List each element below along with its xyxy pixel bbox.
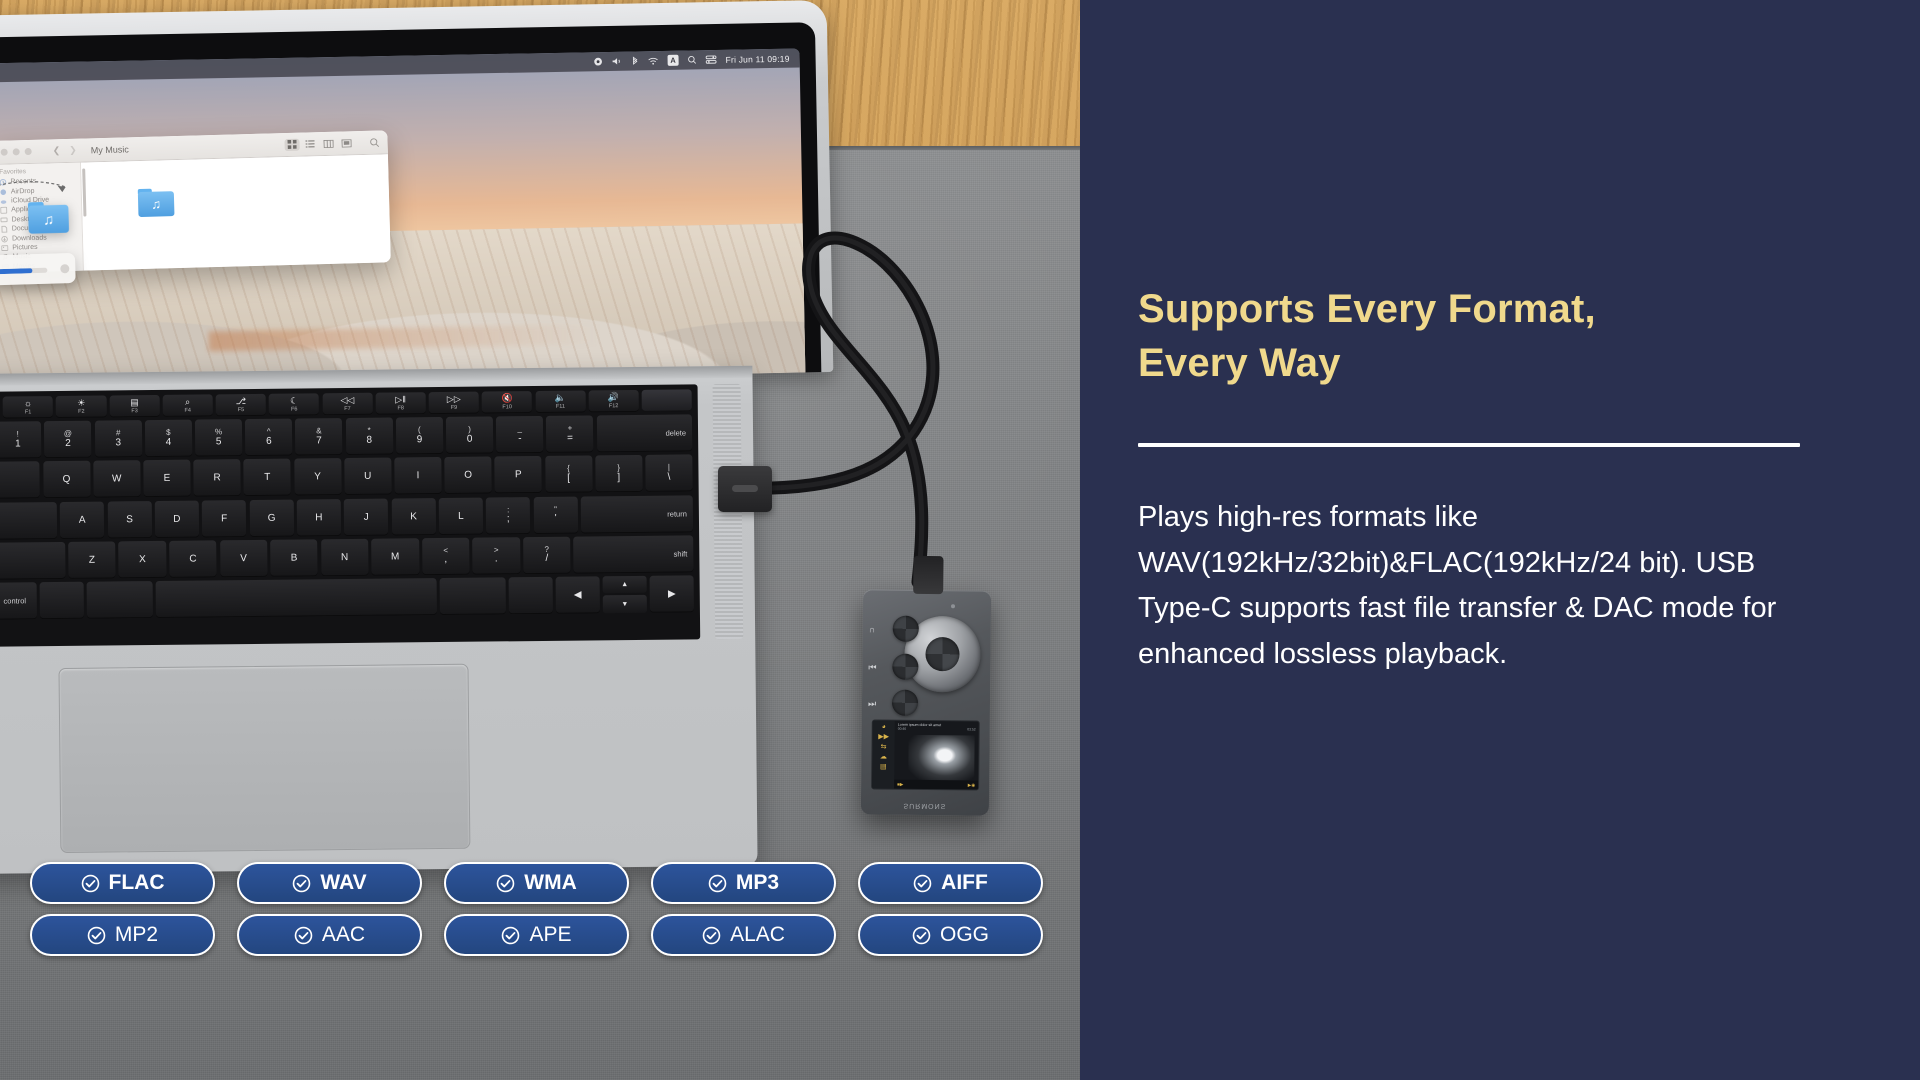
check-circle-icon [913,874,932,893]
format-badge-ogg[interactable]: OGG [858,914,1043,956]
badge-label: MP2 [115,923,158,947]
key-f7[interactable]: ◁◁F7 [322,393,372,416]
key-control[interactable]: control [0,582,37,619]
key-3[interactable]: #3 [95,420,142,457]
keyboard-bottom-row[interactable]: fn control ◀ ▲ ▼ ▶ [0,575,696,620]
previous-track-button[interactable] [892,654,918,680]
music-folder-icon[interactable]: ♫ [138,188,175,217]
key-period[interactable]: >. [472,537,520,574]
check-circle-icon [81,874,100,893]
keyboard-q-row[interactable]: tab Q W E R T Y U I O P {[ }] |\ [0,455,695,500]
copy-progress-dialog[interactable]: mp3" to "My Music" About 5 seconds [0,253,76,288]
key-option-right[interactable] [509,577,553,614]
keyboard[interactable]: esc ☼F1 ☀F2 ▤F3 ⌕F4 ⎇F5 ☾F6 ◁◁F7 ▷‖F8 ▷▷… [0,384,700,647]
key-arrow-down[interactable]: ▼ [603,595,647,613]
key-p[interactable]: P [495,456,542,493]
check-circle-icon [912,926,931,945]
folder-icon[interactable]: ▤ [880,764,887,771]
key-shift-right[interactable]: shift [573,535,693,573]
key-f12[interactable]: 🔊F12 [588,390,638,413]
finder-window[interactable]: ❮ ❯ My Music [0,130,391,273]
key-semicolon[interactable]: :; [486,497,531,534]
key-2[interactable]: @2 [44,421,91,458]
copy-panel: Supports Every Format, Every Way Plays h… [1080,0,1920,1080]
volume-icon: ▶◉ [968,782,975,788]
sidebar-label: Downloads [12,234,47,242]
key-slash[interactable]: ?/ [523,536,571,573]
track-times: 00:46 03:52 [895,727,979,732]
input-source-icon[interactable]: A [667,55,678,66]
key-arrow-up[interactable]: ▲ [603,576,647,594]
check-circle-icon [87,926,106,945]
key-f[interactable]: F [202,500,247,537]
check-circle-icon [708,874,727,893]
cloud-icon[interactable]: ☁ [880,754,887,761]
key-u[interactable]: U [344,458,391,495]
jog-wheel-center[interactable] [925,637,959,671]
key-i[interactable]: I [394,457,441,494]
format-badge-grid: FLAC WAV WMA MP3 AIFF MP2 [30,862,1050,956]
laptop-screen: Help [0,48,805,388]
key-x[interactable]: X [119,541,167,578]
key-c[interactable]: C [169,540,217,577]
wifi-icon[interactable] [648,57,659,65]
scrollbar[interactable] [82,169,86,217]
key-7[interactable]: &7 [295,418,342,455]
check-circle-icon [294,926,313,945]
key-minus[interactable]: _- [496,416,543,453]
device-usb-connector [913,556,943,594]
product-photo: Help [0,0,1080,1080]
next-track-icon: ⏭ [868,699,876,708]
key-0[interactable]: )0 [446,417,493,454]
key-o[interactable]: O [444,457,491,494]
badge-label: OGG [940,923,989,947]
format-badge-mp2[interactable]: MP2 [30,914,215,956]
menubar-clock[interactable]: Fri Jun 11 09:19 [725,53,789,64]
spotlight-search-icon[interactable] [688,55,697,64]
key-j[interactable]: J [344,498,389,535]
format-badge-wma[interactable]: WMA [444,862,629,904]
device-screen: ◕ ▶▶ ⇆ ☁ ▤ Lorem ipsum dolor sit amet 00… [871,719,980,790]
check-circle-icon [292,874,311,893]
key-n[interactable]: N [321,539,369,576]
chevron-right-icon[interactable]: ❯ [69,145,77,156]
key-capslock[interactable]: caps lock [0,502,57,540]
list-icon[interactable] [302,138,317,150]
badge-label: WAV [320,871,366,895]
portable-audio-player: ∩ ⏮ ⏭ ◕ ▶▶ ⇆ ☁ ▤ Lorem ipsum dolor sit a… [861,589,991,815]
sidebar-label: AirDrop [11,187,35,195]
eq-icon[interactable]: ◕ [882,724,886,731]
key-command-left[interactable] [87,581,153,619]
check-circle-icon [702,926,721,945]
badge-label: APE [529,923,571,947]
key-t[interactable]: T [244,459,291,496]
key-q[interactable]: Q [43,461,90,498]
key-f8[interactable]: ▷‖F8 [375,392,425,415]
search-icon[interactable] [369,137,379,147]
airdrop-icon [0,188,7,195]
badge-label: MP3 [736,871,779,895]
key-bracket-left[interactable]: {[ [545,456,592,493]
key-f10[interactable]: 🔇F10 [482,391,532,414]
device-brand: SURMONS [861,801,989,809]
body-copy: Plays high-res formats like WAV(192kHz/3… [1138,495,1828,678]
badge-label: FLAC [109,871,165,895]
headphone-icon: ∩ [869,625,876,634]
key-8[interactable]: *8 [346,418,393,455]
format-badge-aac[interactable]: AAC [237,914,422,956]
key-shift-left[interactable]: shift [0,542,65,580]
badge-label: ALAC [730,923,785,947]
copy-dialog-subtitle: About 5 seconds [0,274,68,284]
bluetooth-icon[interactable] [632,56,639,66]
badge-label: WMA [524,871,576,895]
finder-content-area[interactable]: ♫ [81,154,391,270]
format-badge-mp3[interactable]: MP3 [651,862,836,904]
device-indicator-dot [951,604,955,608]
download-icon [1,235,8,242]
keyboard-a-row[interactable]: caps lock A S D F G H J K L :; "' return [0,495,695,540]
key-f9[interactable]: ▷▷F9 [429,392,479,415]
document-icon [1,226,8,233]
key-m[interactable]: M [371,538,419,575]
laptop-bezel: Help [0,22,821,388]
check-circle-icon [496,874,515,893]
apps-icon [0,207,7,214]
format-badge-ape[interactable]: APE [444,914,629,956]
key-bracket-right[interactable]: }] [595,455,642,492]
key-6[interactable]: ^6 [245,419,292,456]
key-arrow-updown[interactable]: ▲ ▼ [603,576,647,613]
key-1[interactable]: !1 [0,421,42,458]
key-quote[interactable]: "' [533,496,578,533]
key-arrow-right[interactable]: ▶ [650,575,694,612]
grid-icon[interactable] [284,138,299,150]
next-track-button[interactable] [892,690,918,716]
laptop-lid: Help [0,0,833,388]
control-center-dot-icon[interactable] [594,57,603,66]
key-f6[interactable]: ☾F6 [269,393,319,416]
time-total: 03:52 [967,727,976,731]
key-e[interactable]: E [143,460,190,497]
headline-line-1: Supports Every Format, [1138,282,1832,336]
key-w[interactable]: W [93,461,140,498]
album-artwork [908,735,974,784]
shuffle-icon[interactable]: ⇆ [881,744,887,751]
key-f4[interactable]: ⌕F4 [163,394,213,417]
key-k[interactable]: K [391,498,436,535]
key-f1[interactable]: ☼F1 [3,396,53,419]
key-comma[interactable]: <, [422,537,470,574]
key-l[interactable]: L [439,497,484,534]
usb-c-plug [718,466,772,512]
key-y[interactable]: Y [294,458,341,495]
keyboard-z-row[interactable]: shift Z X C V B N M <, >. ?/ shift [0,535,696,580]
headline-line-2: Every Way [1138,336,1832,390]
laptop-base: esc ☼F1 ☀F2 ▤F3 ⌕F4 ⎇F5 ☾F6 ◁◁F7 ▷‖F8 ▷▷… [0,366,758,875]
gallery-icon[interactable] [338,137,353,149]
device-now-playing: Lorem ipsum dolor sit amet 00:46 03:52 ■… [894,721,979,790]
playlist-icon[interactable]: ▶▶ [878,734,889,741]
key-a[interactable]: A [60,501,105,538]
key-v[interactable]: V [220,540,268,577]
key-f5[interactable]: ⎇F5 [216,394,266,417]
key-arrow-left[interactable]: ◀ [556,576,600,613]
key-f11[interactable]: 🔈F11 [535,390,585,413]
check-circle-icon [501,926,520,945]
music-folder-icon[interactable]: ♫ [28,201,69,233]
window-traffic-lights[interactable] [1,148,32,156]
volume-icon[interactable] [612,57,623,66]
key-delete[interactable]: delete [597,415,693,453]
device-screen-rail[interactable]: ◕ ▶▶ ⇆ ☁ ▤ [872,720,895,788]
cancel-icon[interactable] [60,264,69,273]
keyboard-number-row[interactable]: ~` !1 @2 #3 $4 %5 ^6 &7 *8 (9 )0 _- += d… [0,415,694,460]
key-r[interactable]: R [193,459,240,496]
key-b[interactable]: B [270,539,318,576]
product-marketing-slide: Help [0,0,1920,1080]
cloud-icon [0,198,7,205]
macos-menubar: Help [0,48,800,83]
format-badge-flac[interactable]: FLAC [30,862,215,904]
key-tab[interactable]: tab [0,462,40,500]
key-9[interactable]: (9 [396,417,443,454]
chevron-left-icon[interactable]: ❮ [53,145,61,156]
trackpad[interactable] [58,664,470,853]
key-space[interactable] [156,578,437,618]
finder-view-modes[interactable] [284,137,353,151]
key-s[interactable]: S [107,501,152,538]
key-4[interactable]: $4 [145,420,192,457]
key-option-left[interactable] [40,582,84,619]
key-return[interactable]: return [581,495,693,533]
copy-dialog-title: mp3" to "My Music" [0,257,67,268]
key-g[interactable]: G [249,499,294,536]
key-backslash[interactable]: |\ [645,455,692,492]
control-center-icon[interactable] [706,55,717,64]
sidebar-label: Recents [10,178,36,186]
touch-id-button[interactable] [642,389,692,412]
battery-icon: ■▶ [897,781,903,787]
device-status-bar: ■▶ ▶◉ [894,780,978,790]
key-5[interactable]: %5 [195,419,242,456]
key-h[interactable]: H [297,499,342,536]
desktop-icon [0,216,7,223]
clock-icon [0,179,7,186]
format-badge-aiff[interactable]: AIFF [858,862,1043,904]
key-f3[interactable]: ▤F3 [109,395,159,418]
key-command-right[interactable] [440,577,506,615]
previous-track-icon: ⏮ [868,663,876,672]
key-z[interactable]: Z [68,541,116,578]
pictures-icon [1,245,8,252]
format-badge-wav[interactable]: WAV [237,862,422,904]
badge-label: AAC [322,923,365,947]
sidebar-header: Favorites [0,167,80,176]
format-badge-alac[interactable]: ALAC [651,914,836,956]
sidebar-label: Pictures [12,244,37,252]
finder-nav[interactable]: ❮ ❯ [53,145,77,157]
headphone-button[interactable] [893,616,919,642]
key-f2[interactable]: ☀F2 [56,396,106,419]
finder-title: My Music [91,144,129,155]
page-title: Supports Every Format, Every Way [1138,282,1832,391]
columns-icon[interactable] [320,137,335,149]
badge-label: AIFF [941,871,988,895]
time-elapsed: 00:46 [898,727,907,731]
key-equals[interactable]: += [546,416,593,453]
divider [1138,443,1800,447]
key-d[interactable]: D [155,500,200,537]
